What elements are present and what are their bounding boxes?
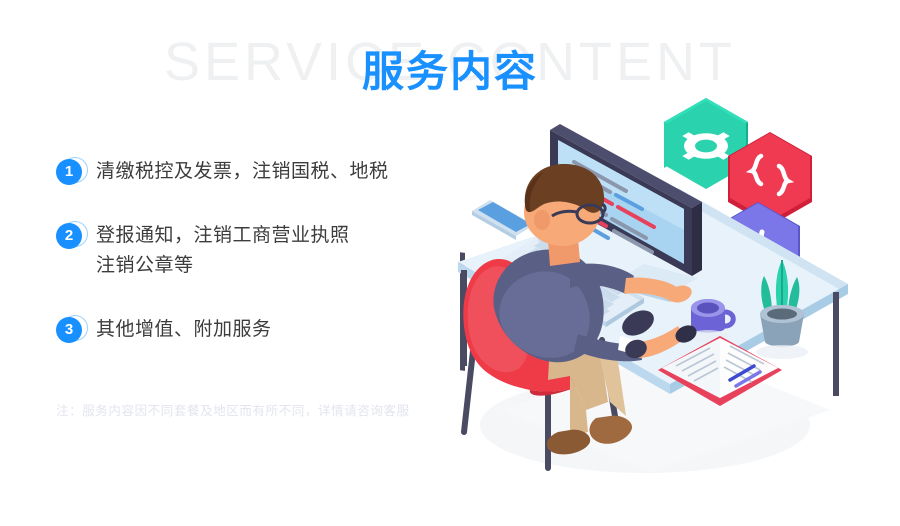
illustration [430,80,900,510]
list-item-label: 登报通知，注销工商营业执照 [96,221,350,251]
service-list: 1 清缴税控及发票，注销国税、地税 2 登报通知，注销工商营业执照 注销公章等 … [56,155,456,377]
list-item: 3 其他增值、附加服务 [56,313,456,345]
list-item-lines: 其他增值、附加服务 [96,313,272,345]
status-badge: 1 [56,159,82,185]
status-badge: 3 [56,317,82,343]
status-badge: 2 [56,223,82,249]
badge-wrap: 2 [56,220,90,250]
desk-leg-front [833,292,839,396]
list-item-label: 清缴税控及发票，注销国税、地税 [96,157,389,187]
badge-wrap: 3 [56,314,90,344]
list-item-label-secondary: 注销公章等 [96,251,350,281]
list-item: 2 登报通知，注销工商营业执照 注销公章等 [56,219,456,281]
badge-wrap: 1 [56,156,90,186]
list-item-lines: 清缴税控及发票，注销国税、地税 [96,155,389,187]
list-item-lines: 登报通知，注销工商营业执照 注销公章等 [96,219,350,281]
plant-pot [760,305,804,347]
list-item-label: 其他增值、附加服务 [96,315,272,345]
service-content-banner: SERVICE CONTENT 服务内容 1 清缴税控及发票，注销国税、地税 2… [0,0,900,526]
footnote-text: 注：服务内容因不同套餐及地区而有所不同，详情请咨询客服 [56,400,410,419]
list-item: 1 清缴税控及发票，注销国税、地税 [56,155,456,187]
